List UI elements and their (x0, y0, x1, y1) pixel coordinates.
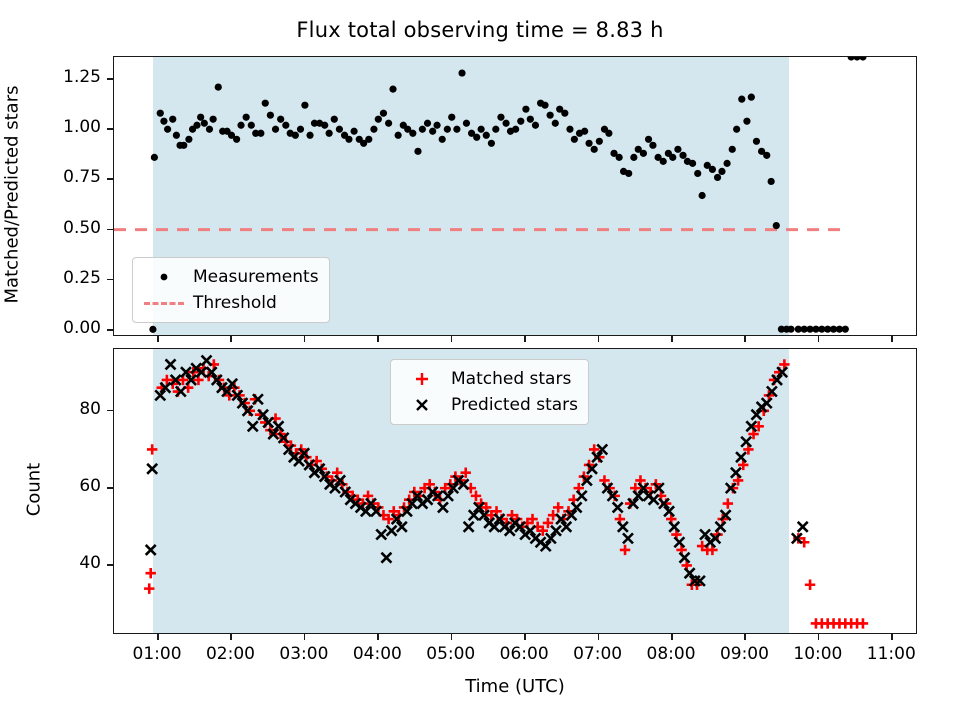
x-tick-mark (671, 634, 673, 640)
x-tick-mark (744, 336, 746, 342)
matched-plus-icon (399, 370, 445, 388)
x-tick-mark (671, 336, 673, 342)
x-tick-label: 08:00 (631, 644, 711, 664)
y-tick-label: 0.00 (0, 318, 101, 338)
predicted-cross-icon (399, 396, 445, 414)
y-tick-label: 1.25 (0, 67, 101, 87)
x-tick-mark (818, 336, 820, 342)
x-tick-label: 02:00 (190, 644, 270, 664)
x-tick-label: 10:00 (778, 644, 858, 664)
threshold-dashed-line-icon (141, 302, 187, 305)
x-tick-label: 09:00 (704, 644, 784, 664)
y-tick-label: 1.00 (0, 117, 101, 137)
legend-item-matched-stars[interactable]: Matched stars (399, 366, 578, 392)
x-tick-label: 05:00 (411, 644, 491, 664)
y-tick-label: 0.75 (0, 167, 101, 187)
x-tick-mark (524, 336, 526, 342)
ratio-plot-axes: Measurements Threshold (113, 56, 917, 336)
count-plot-axes: Matched stars Predicted stars (113, 348, 917, 634)
x-tick-mark (157, 634, 159, 640)
y-tick-label: 0.50 (0, 218, 101, 238)
x-tick-mark (744, 634, 746, 640)
x-tick-label: 01:00 (117, 644, 197, 664)
legend-label-measurements: Measurements (187, 267, 319, 287)
x-tick-mark (451, 634, 453, 640)
legend-item-measurements[interactable]: Measurements (141, 264, 319, 290)
x-tick-label: 03:00 (264, 644, 344, 664)
legend-label-threshold: Threshold (187, 293, 277, 313)
x-tick-mark (230, 336, 232, 342)
x-tick-label: 04:00 (337, 644, 417, 664)
x-tick-mark (598, 634, 600, 640)
x-tick-mark (230, 634, 232, 640)
x-axis-label: Time (UTC) (113, 676, 917, 697)
legend-item-predicted-stars[interactable]: Predicted stars (399, 392, 578, 418)
top-y-axis-label: Matched/Predicted stars (2, 55, 23, 335)
x-tick-mark (377, 336, 379, 342)
x-tick-mark (891, 634, 893, 640)
x-tick-mark (818, 634, 820, 640)
y-tick-label: 40 (0, 553, 101, 573)
x-tick-label: 06:00 (484, 644, 564, 664)
x-tick-mark (377, 634, 379, 640)
x-tick-mark (157, 336, 159, 342)
x-tick-mark (891, 336, 893, 342)
legend-label-matched-stars: Matched stars (445, 369, 571, 389)
x-tick-label: 11:00 (851, 644, 931, 664)
bottom-legend[interactable]: Matched stars Predicted stars (390, 359, 589, 425)
x-tick-mark (304, 634, 306, 640)
figure-title: Flux total observing time = 8.83 h (0, 18, 960, 42)
y-tick-label: 0.25 (0, 268, 101, 288)
x-tick-mark (524, 634, 526, 640)
y-tick-label: 60 (0, 476, 101, 496)
legend-label-predicted-stars: Predicted stars (445, 395, 578, 415)
x-tick-mark (598, 336, 600, 342)
legend-item-threshold[interactable]: Threshold (141, 290, 319, 316)
measurements-dot-icon (141, 270, 187, 284)
figure-canvas: Flux total observing time = 8.83 h Match… (0, 0, 960, 720)
x-tick-label: 07:00 (558, 644, 638, 664)
x-tick-mark (304, 336, 306, 342)
x-tick-mark (451, 336, 453, 342)
top-legend[interactable]: Measurements Threshold (132, 257, 330, 323)
y-tick-label: 80 (0, 399, 101, 419)
